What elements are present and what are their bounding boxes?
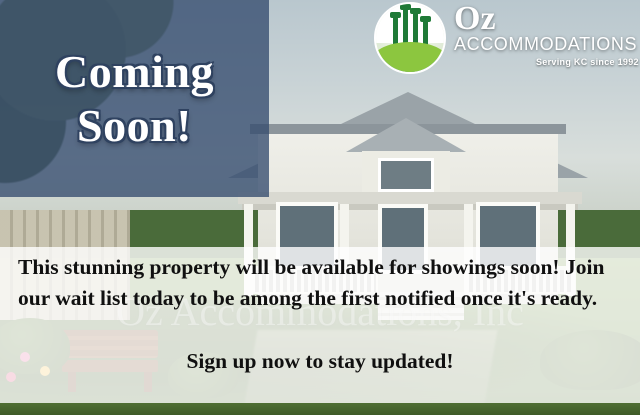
badge-tower-top xyxy=(410,8,421,14)
coming-soon-graphic: Coming Soon! Oz ACCOMMODATIONS Serving K… xyxy=(0,0,640,415)
brand-subtitle: ACCOMMODATIONS xyxy=(454,34,637,55)
oz-towers-badge-icon xyxy=(374,2,446,74)
brand-logo: Oz ACCOMMODATIONS Serving KC since 1992 xyxy=(374,0,640,76)
brand-name: Oz xyxy=(454,2,496,36)
signup-cta-text: Sign up now to stay updated! xyxy=(0,349,640,374)
dormer-window xyxy=(378,158,434,192)
dormer-roof xyxy=(346,118,466,152)
message-paragraph: This stunning property will be available… xyxy=(18,252,622,314)
badge-tower-top xyxy=(390,12,401,18)
dormer xyxy=(346,118,466,192)
brand-tagline: Serving KC since 1992 xyxy=(536,57,639,67)
headline-line-1: Coming xyxy=(55,46,214,98)
badge-green-swoosh xyxy=(374,42,446,74)
headline-block: Coming Soon! xyxy=(0,0,269,197)
badge-tower-top xyxy=(420,16,431,22)
bottom-grass-strip xyxy=(0,403,640,415)
headline-line-2: Soon! xyxy=(77,100,192,152)
